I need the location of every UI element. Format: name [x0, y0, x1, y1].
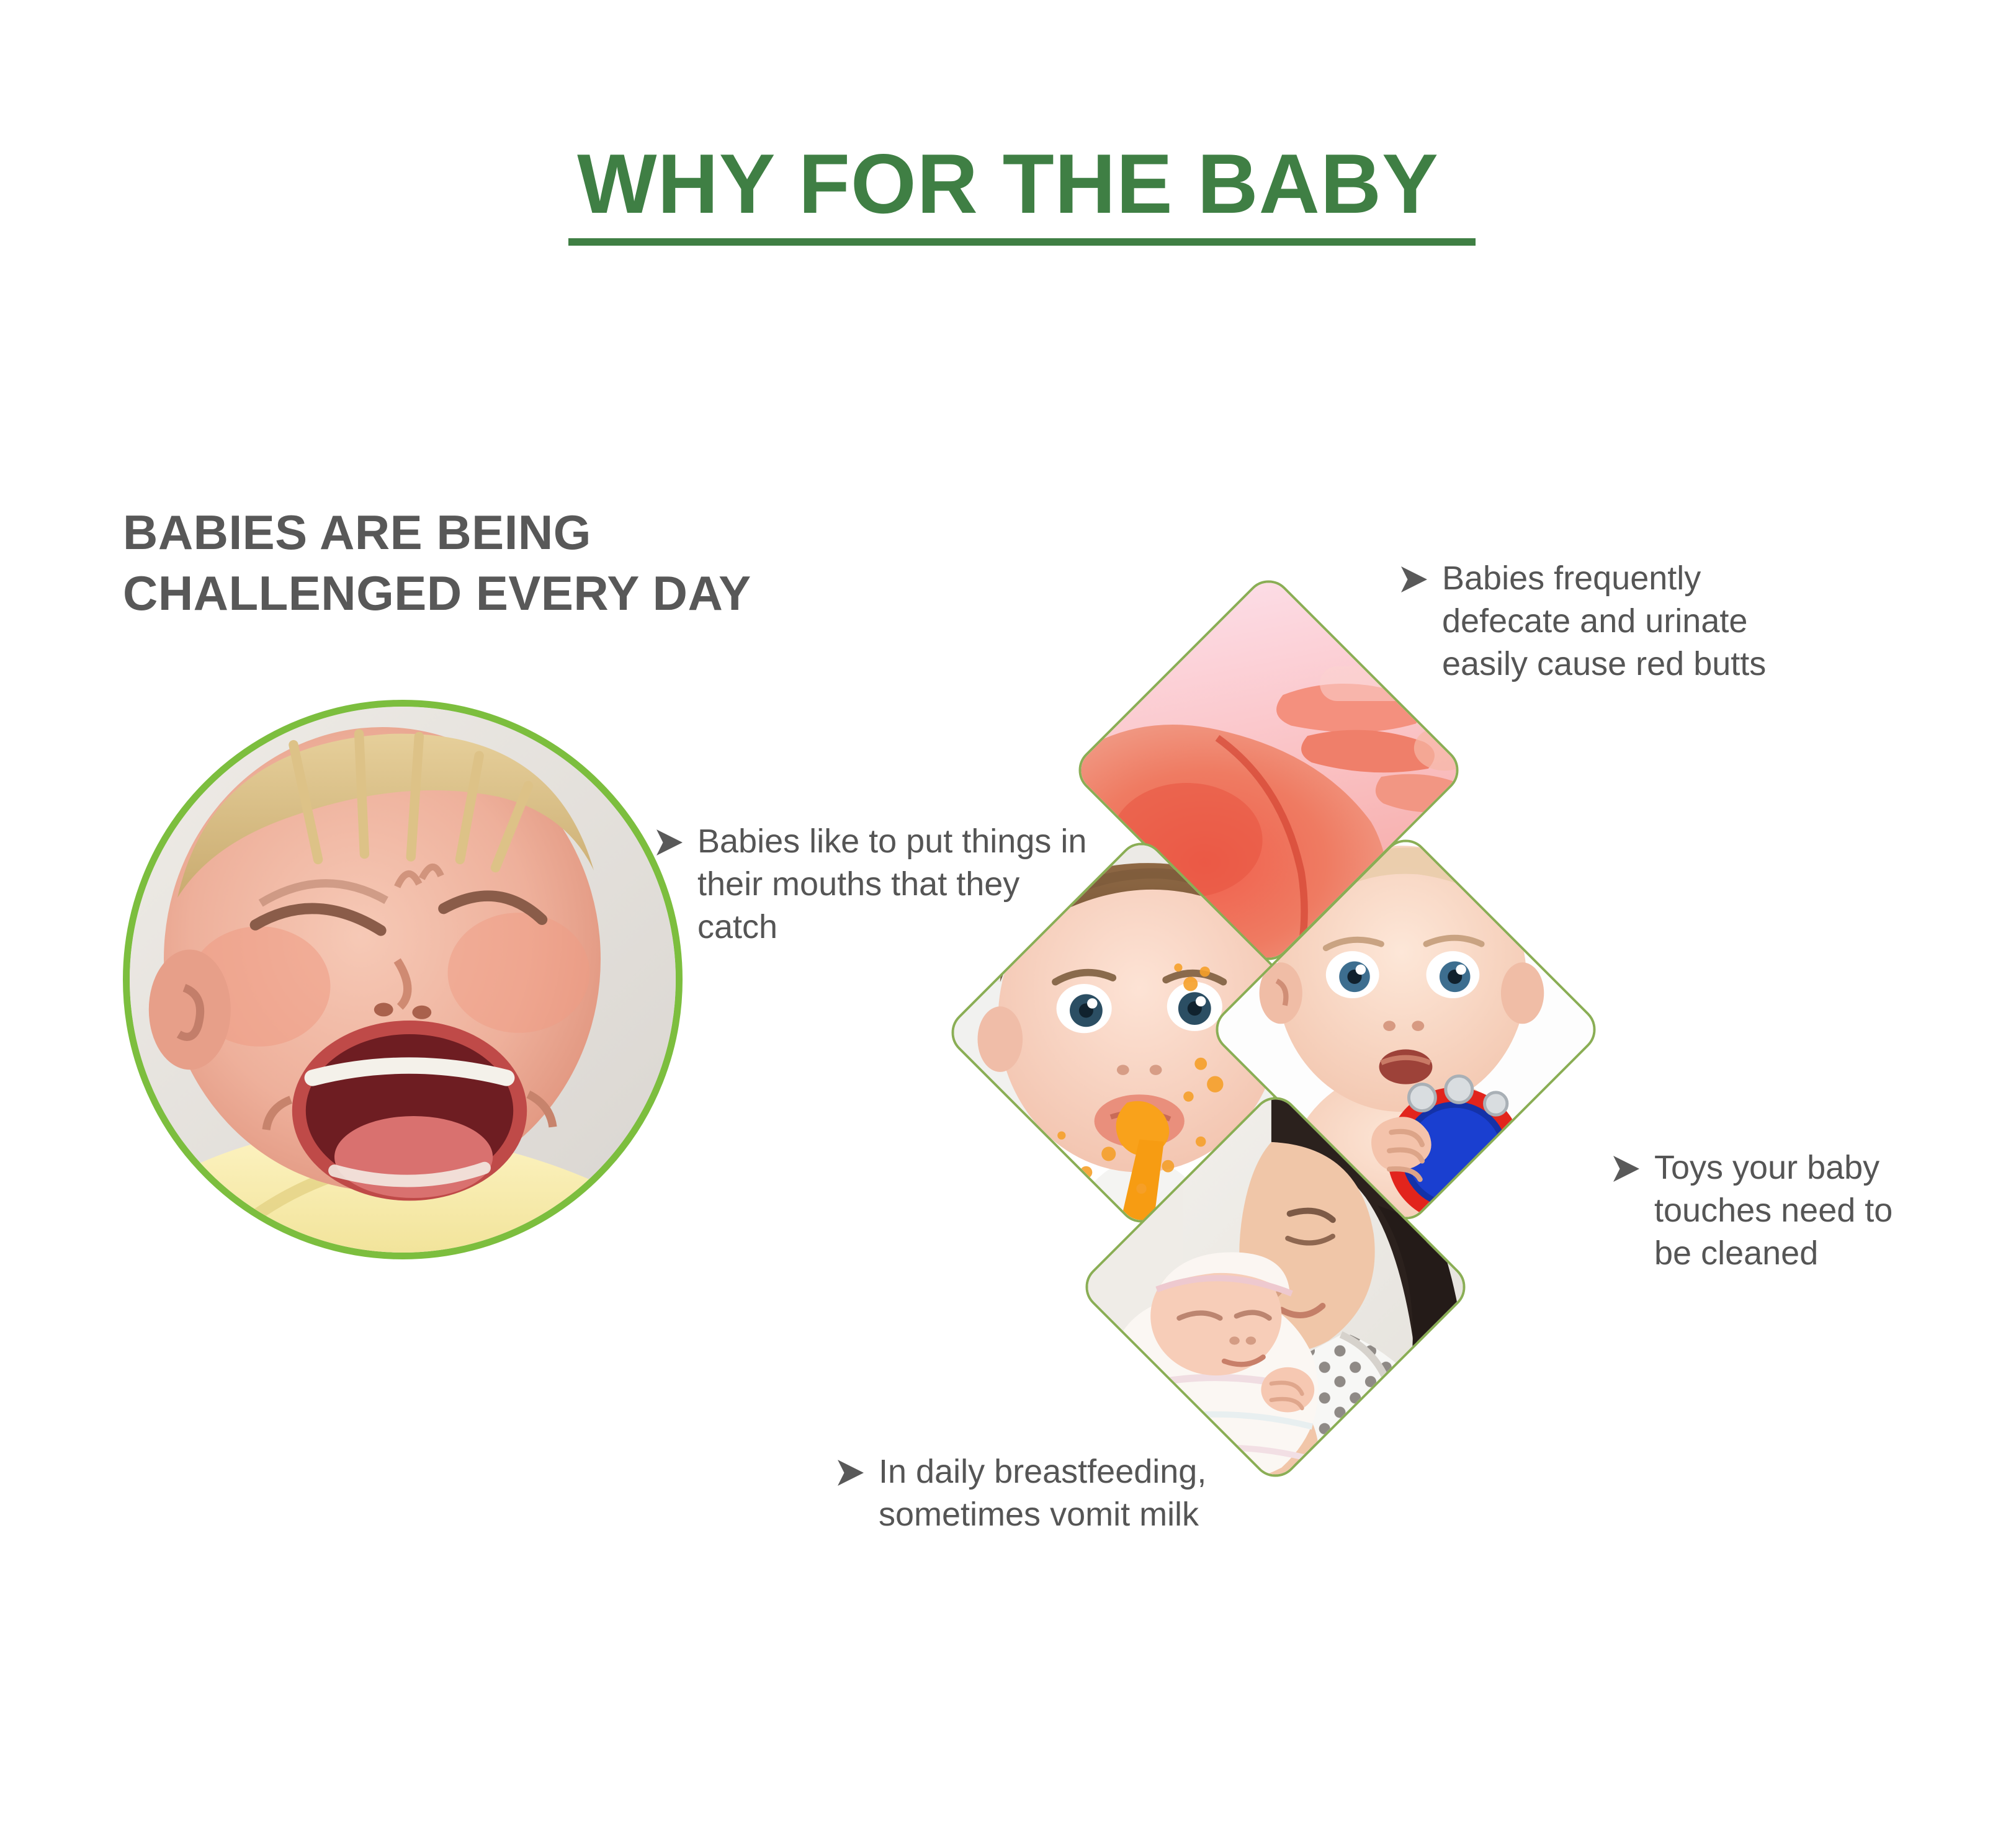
- bullet-line: catch: [697, 906, 1134, 949]
- bullet-line: Toys your baby: [1654, 1146, 1992, 1189]
- page-title: WHY FOR THE BABY: [0, 141, 2016, 226]
- arrow-right-bullet-icon: [650, 824, 689, 861]
- subheading-line-1: BABIES ARE BEING: [123, 503, 992, 563]
- arrow-right-bullet-icon: [1395, 561, 1433, 598]
- bullet-line: be cleaned: [1654, 1232, 1992, 1275]
- bullet-text: Babies frequently defecate and urinate e…: [1442, 557, 1829, 686]
- crying-baby-photo: [123, 700, 683, 1259]
- bullet-line: Babies frequently: [1442, 557, 1829, 600]
- bullet-text: Babies like to put things in their mouth…: [697, 820, 1134, 949]
- bullet-text: Toys your baby touches need to be cleane…: [1654, 1146, 1992, 1275]
- bullet-line: easily cause red butts: [1442, 643, 1829, 686]
- section-subheading: BABIES ARE BEING CHALLENGED EVERY DAY: [123, 503, 992, 623]
- bullet-line: defecate and urinate: [1442, 600, 1829, 643]
- bullet-line: In daily breastfeeding,: [879, 1450, 1266, 1493]
- bullet-line: Babies like to put things in: [697, 820, 1134, 863]
- bullet-line: sometimes vomit milk: [879, 1493, 1266, 1536]
- bullet-line: touches need to: [1654, 1189, 1992, 1232]
- slide-canvas: WHY FOR THE BABY BABIES ARE BEING CHALLE…: [0, 0, 2016, 1832]
- title-underline: [568, 238, 1476, 246]
- bullet-breastfeeding-vomit: In daily breastfeeding, sometimes vomit …: [831, 1450, 1266, 1536]
- arrow-right-bullet-icon: [831, 1454, 870, 1491]
- bullet-line: their mouths that they: [697, 863, 1134, 906]
- arrow-right-bullet-icon: [1607, 1150, 1646, 1187]
- bullet-babies-mouths: Babies like to put things in their mouth…: [650, 820, 1134, 949]
- bullet-toys-cleaned: Toys your baby touches need to be cleane…: [1607, 1146, 1992, 1275]
- subheading-line-2: CHALLENGED EVERY DAY: [123, 563, 992, 624]
- bullet-text: In daily breastfeeding, sometimes vomit …: [879, 1450, 1266, 1536]
- bullet-defecate-urinate: Babies frequently defecate and urinate e…: [1395, 557, 1829, 686]
